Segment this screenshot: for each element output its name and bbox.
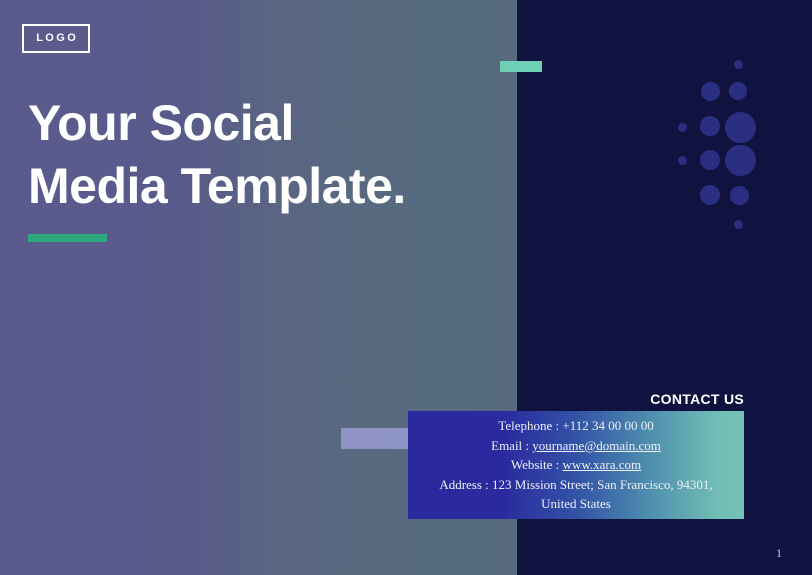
teal-accent-bar	[500, 61, 542, 72]
decorative-dot	[725, 145, 756, 176]
decorative-dot	[729, 82, 747, 100]
contact-telephone-label: Telephone :	[498, 418, 562, 433]
decorative-dot	[700, 116, 720, 136]
green-accent-bar	[28, 234, 107, 242]
decorative-dot	[700, 150, 720, 170]
contact-website-row: Website : www.xara.com	[422, 455, 730, 475]
contact-email-label: Email :	[491, 438, 532, 453]
logo-label: LOGO	[34, 33, 78, 44]
decorative-dot	[725, 112, 756, 143]
contact-address-value: 123 Mission Street; San Francisco, 94301…	[492, 477, 713, 512]
decorative-dot	[701, 82, 720, 101]
slide-canvas: LOGO Your Social Media Template. CONTACT…	[0, 0, 812, 575]
contact-email-row: Email : yourname@domain.com	[422, 436, 730, 456]
decorative-dot	[678, 123, 687, 132]
contact-website-label: Website :	[511, 457, 563, 472]
page-title-line-1: Your Social	[28, 92, 498, 155]
decorative-dot	[734, 220, 743, 229]
contact-address-row: Address : 123 Mission Street; San Franci…	[422, 475, 730, 514]
contact-website-value[interactable]: www.xara.com	[563, 457, 642, 472]
decorative-dot	[678, 156, 687, 165]
contact-email-value[interactable]: yourname@domain.com	[532, 438, 661, 453]
decorative-dot	[700, 185, 720, 205]
contact-us-heading: CONTACT US	[650, 391, 744, 407]
decorative-dot	[730, 186, 749, 205]
contact-details-list: Telephone : +112 34 00 00 00 Email : you…	[408, 416, 744, 514]
decorative-dot	[734, 60, 743, 69]
contact-details-box: Telephone : +112 34 00 00 00 Email : you…	[408, 411, 744, 519]
contact-telephone-row: Telephone : +112 34 00 00 00	[422, 416, 730, 436]
page-title: Your Social Media Template.	[28, 92, 498, 218]
page-title-line-2: Media Template.	[28, 155, 498, 218]
logo-placeholder[interactable]: LOGO	[22, 24, 90, 53]
contact-telephone-value: +112 34 00 00 00	[562, 418, 653, 433]
page-number: 1	[776, 546, 782, 561]
contact-address-label: Address :	[439, 477, 492, 492]
dot-pattern-decoration	[655, 50, 775, 240]
